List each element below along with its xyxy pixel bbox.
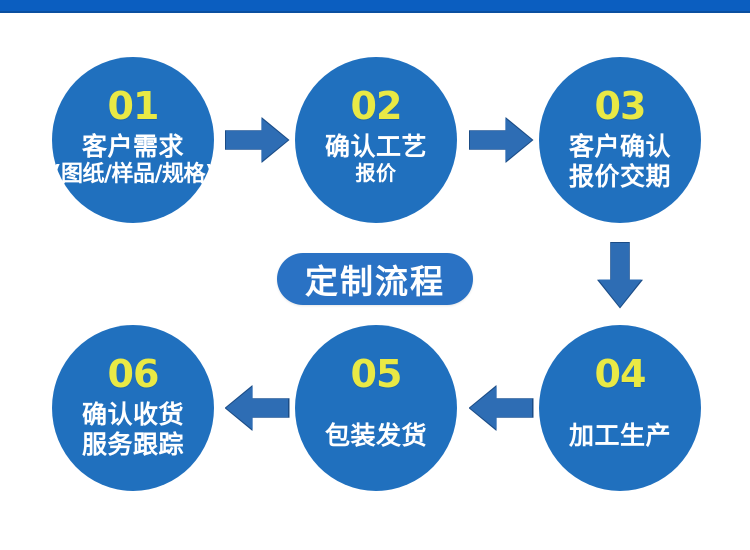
arrow-right-icon	[226, 117, 288, 163]
step-label-04-line1: 加工生产	[569, 421, 671, 451]
step-label-01-line1: 客户需求	[51, 132, 214, 162]
step-circle-05[interactable]: 05 包装发货	[295, 325, 457, 491]
arrow-down-icon	[597, 243, 643, 307]
step-label-02-line2: 报价	[325, 162, 427, 186]
step-label-04: 加工生产	[569, 421, 671, 451]
step-circle-04[interactable]: 04 加工生产	[539, 325, 701, 491]
step-circle-01[interactable]: 01 客户需求 (图纸/样品/规格)	[52, 57, 214, 223]
step-label-03-line2: 报价交期	[569, 162, 671, 192]
step-label-02-line1: 确认工艺	[325, 132, 427, 162]
step-number-01: 01	[108, 87, 159, 125]
process-flow-diagram: 01 客户需求 (图纸/样品/规格) 02 确认工艺 报价 03 客户确认 报价…	[0, 0, 750, 550]
center-title-badge: 定制流程	[277, 253, 473, 305]
step-number-03: 03	[595, 87, 646, 125]
step-label-06-line1: 确认收货	[82, 400, 184, 430]
step-circle-02[interactable]: 02 确认工艺 报价	[295, 57, 457, 223]
arrow-left-icon	[226, 385, 288, 431]
step-label-06: 确认收货 服务跟踪	[82, 400, 184, 459]
center-title-label: 定制流程	[305, 255, 445, 303]
step-number-06: 06	[108, 355, 159, 393]
step-number-05: 05	[351, 355, 402, 393]
arrow-right-icon	[470, 117, 532, 163]
top-decorative-bar	[0, 0, 750, 13]
step-number-04: 04	[595, 355, 646, 393]
step-label-05-line1: 包装发货	[325, 421, 427, 451]
step-circle-03[interactable]: 03 客户确认 报价交期	[539, 57, 701, 223]
step-number-02: 02	[351, 87, 402, 125]
step-label-05: 包装发货	[325, 421, 427, 451]
step-circle-06[interactable]: 06 确认收货 服务跟踪	[52, 325, 214, 491]
step-label-02: 确认工艺 报价	[325, 132, 427, 185]
step-label-06-line2: 服务跟踪	[82, 430, 184, 460]
step-label-01-line2: (图纸/样品/规格)	[51, 162, 214, 188]
step-label-01: 客户需求 (图纸/样品/规格)	[51, 132, 214, 187]
step-label-03: 客户确认 报价交期	[569, 132, 671, 191]
arrow-left-icon	[470, 385, 532, 431]
step-label-03-line1: 客户确认	[569, 132, 671, 162]
